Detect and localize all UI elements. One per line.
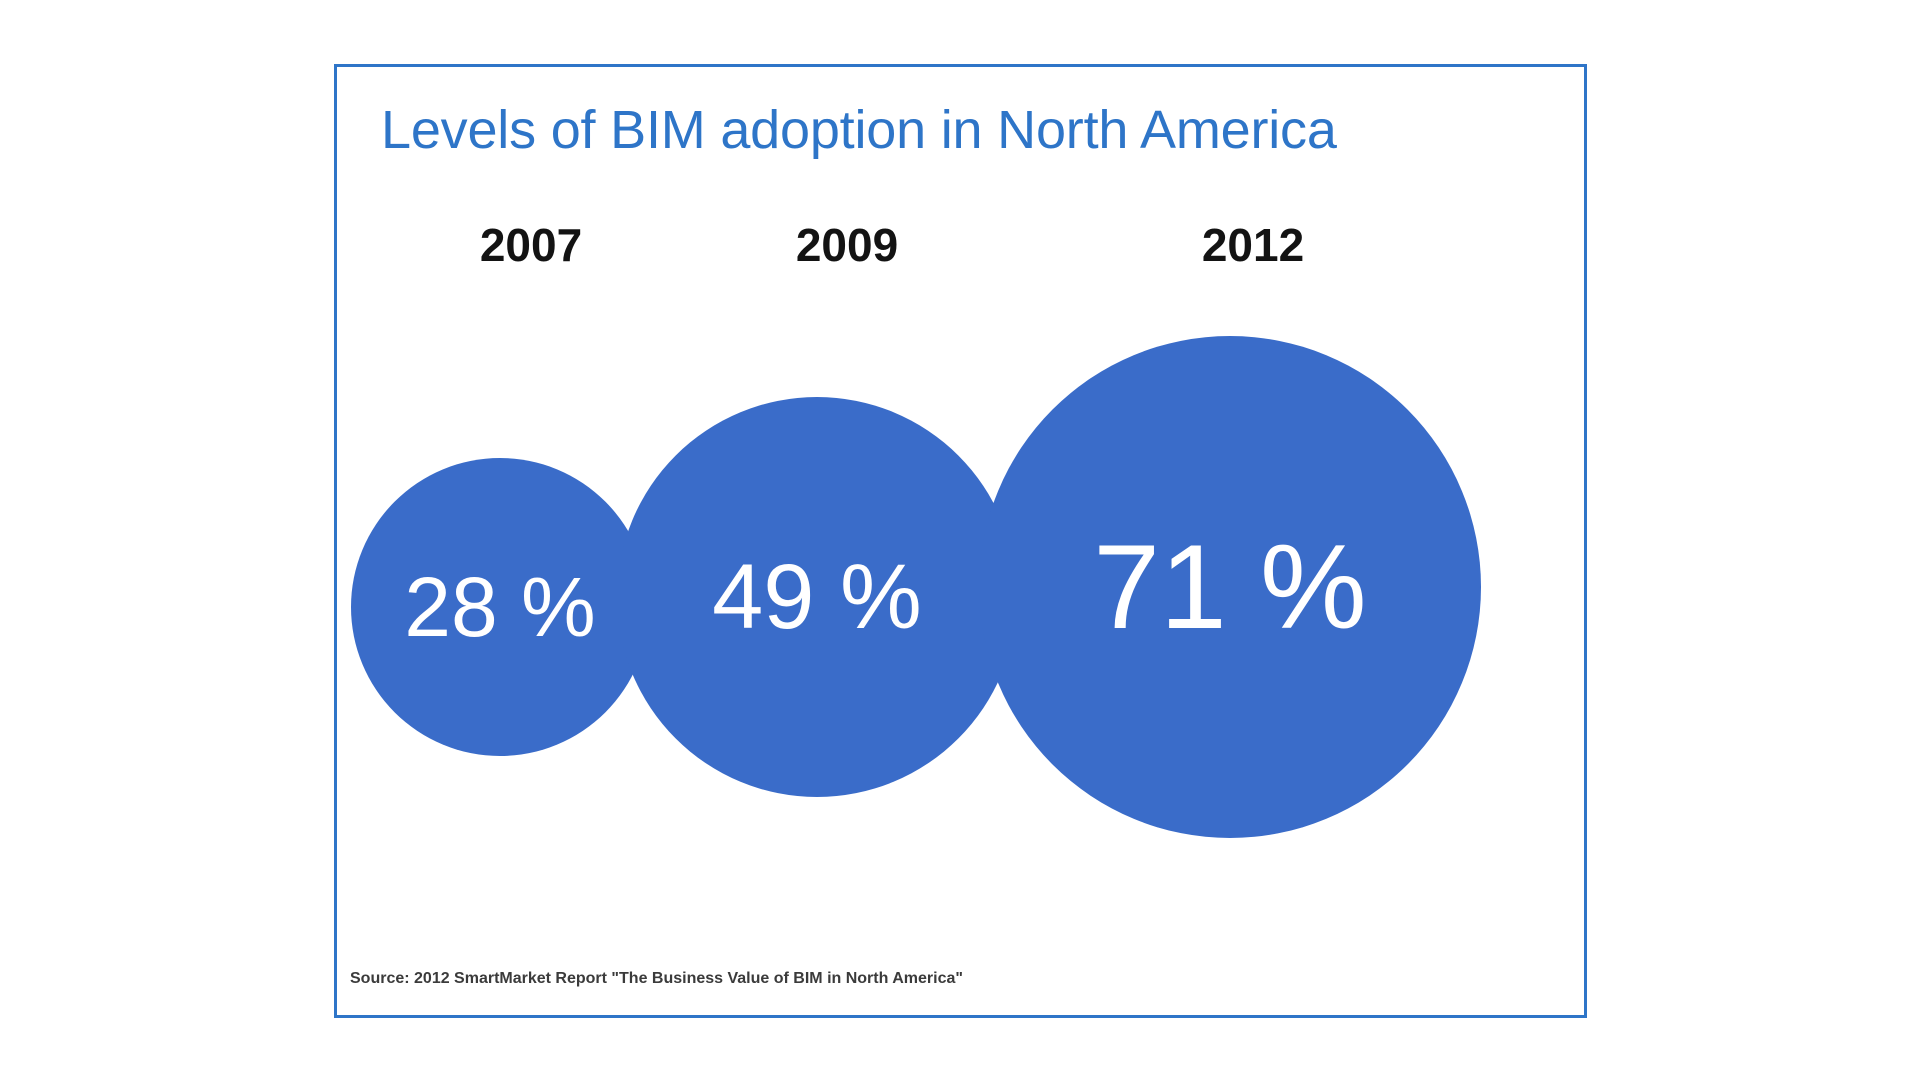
year-label-2009: 2009 <box>697 220 997 270</box>
bubble-value-2007: 28 % <box>404 565 595 649</box>
year-label-2007: 2007 <box>381 220 681 270</box>
source-note: Source: 2012 SmartMarket Report "The Bus… <box>350 969 963 989</box>
page-title: Levels of BIM adoption in North America <box>381 99 1541 161</box>
bubble-value-2012: 71 % <box>1093 527 1367 647</box>
bubble-value-2009: 49 % <box>712 551 922 643</box>
bubble-2009: 49 % <box>617 397 1017 797</box>
bubble-2012: 71 % <box>979 336 1481 838</box>
bubble-2007: 28 % <box>351 458 649 756</box>
slide-frame: Levels of BIM adoption in North America … <box>334 64 1587 1018</box>
year-label-2012: 2012 <box>1103 220 1403 270</box>
